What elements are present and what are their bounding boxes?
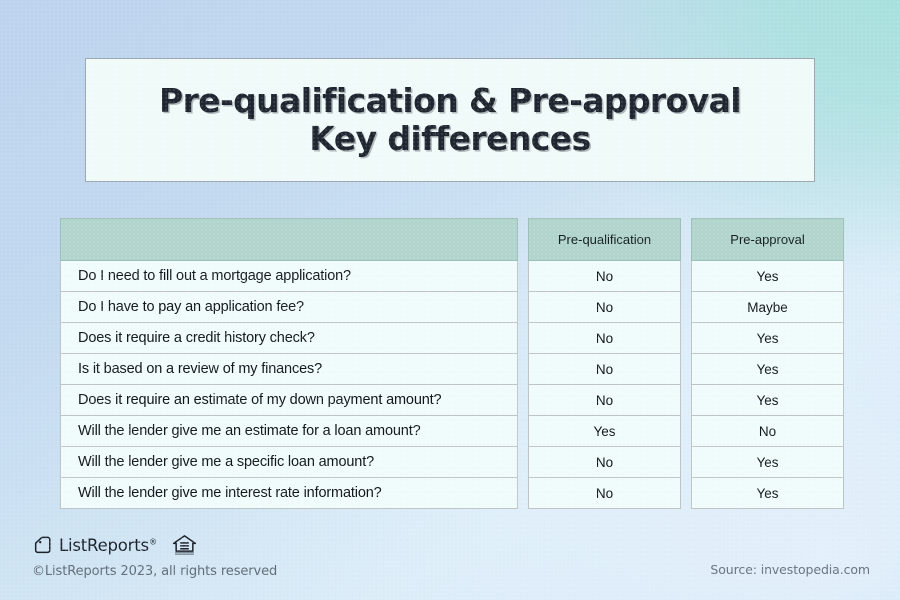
page-title-line-1: Pre-qualification & Pre-approval [159, 83, 741, 119]
table-row: Do I have to pay an application fee? [61, 292, 518, 323]
table-row: Yes [692, 385, 844, 416]
table-row: No [692, 416, 844, 447]
answer-cell: No [529, 447, 681, 478]
answer-cell: No [529, 323, 681, 354]
equal-housing-opportunity-icon [171, 533, 198, 557]
question-cell: Does it require a credit history check? [61, 323, 518, 354]
table-row: No [529, 323, 681, 354]
page-title-line-2: Key differences [309, 121, 590, 157]
table-row: Will the lender give me a specific loan … [61, 447, 518, 478]
preapproval-column: Pre-approval Yes Maybe Yes Yes Yes No Ye… [691, 218, 844, 509]
brand-name: ListReports® [59, 536, 157, 555]
table-row: No [529, 354, 681, 385]
answer-cell: Yes [692, 385, 844, 416]
table-row: No [529, 261, 681, 292]
questions-table: Do I need to fill out a mortgage applica… [60, 218, 518, 509]
copyright-text: ©ListReports 2023, all rights reserved [32, 564, 277, 579]
answer-cell: No [529, 385, 681, 416]
table-row: No [529, 447, 681, 478]
table-row: Yes [692, 323, 844, 354]
table-row: Yes [692, 354, 844, 385]
listreports-logo: ListReports® [32, 535, 157, 556]
table-row: Yes [692, 478, 844, 509]
question-cell: Do I need to fill out a mortgage applica… [61, 261, 518, 292]
brand-row: ListReports® [32, 533, 277, 557]
table-header-row: Pre-approval [692, 219, 844, 261]
answer-cell: Yes [529, 416, 681, 447]
table-row: Yes [529, 416, 681, 447]
table-row: Maybe [692, 292, 844, 323]
answer-cell: No [692, 416, 844, 447]
answer-cell: Yes [692, 323, 844, 354]
table-row: Do I need to fill out a mortgage applica… [61, 261, 518, 292]
footer-branding: ListReports® ©ListReports 2023, all righ… [32, 533, 277, 579]
question-cell: Is it based on a review of my finances? [61, 354, 518, 385]
table-row: No [529, 478, 681, 509]
question-cell: Does it require an estimate of my down p… [61, 385, 518, 416]
listreports-house-tag-icon [32, 535, 53, 556]
question-cell: Will the lender give me a specific loan … [61, 447, 518, 478]
answer-cell: No [529, 478, 681, 509]
table-header-row: Pre-qualification [529, 219, 681, 261]
title-card: Pre-qualification & Pre-approval Key dif… [85, 58, 815, 182]
table-row: Yes [692, 261, 844, 292]
preapproval-column-header: Pre-approval [692, 219, 844, 261]
table-row: No [529, 385, 681, 416]
question-cell: Will the lender give me an estimate for … [61, 416, 518, 447]
answer-cell: Yes [692, 261, 844, 292]
source-attribution: Source: investopedia.com [710, 562, 870, 577]
question-cell: Do I have to pay an application fee? [61, 292, 518, 323]
answer-cell: Yes [692, 478, 844, 509]
answer-cell: No [529, 292, 681, 323]
table-row: Does it require a credit history check? [61, 323, 518, 354]
registered-mark: ® [149, 537, 157, 546]
table-row: Yes [692, 447, 844, 478]
answer-cell: No [529, 354, 681, 385]
questions-column-header [61, 219, 518, 261]
preapproval-table: Pre-approval Yes Maybe Yes Yes Yes No Ye… [691, 218, 844, 509]
comparison-table: Do I need to fill out a mortgage applica… [60, 218, 843, 509]
prequalification-column: Pre-qualification No No No No No Yes No … [528, 218, 681, 509]
table-row: Does it require an estimate of my down p… [61, 385, 518, 416]
table-row: Will the lender give me an estimate for … [61, 416, 518, 447]
table-row: Will the lender give me interest rate in… [61, 478, 518, 509]
prequalification-table: Pre-qualification No No No No No Yes No … [528, 218, 681, 509]
answer-cell: Yes [692, 354, 844, 385]
question-cell: Will the lender give me interest rate in… [61, 478, 518, 509]
table-row: Is it based on a review of my finances? [61, 354, 518, 385]
table-row: No [529, 292, 681, 323]
prequalification-column-header: Pre-qualification [529, 219, 681, 261]
table-header-row [61, 219, 518, 261]
questions-column: Do I need to fill out a mortgage applica… [60, 218, 518, 509]
answer-cell: Maybe [692, 292, 844, 323]
answer-cell: Yes [692, 447, 844, 478]
infographic-canvas: Pre-qualification & Pre-approval Key dif… [0, 0, 900, 600]
answer-cell: No [529, 261, 681, 292]
